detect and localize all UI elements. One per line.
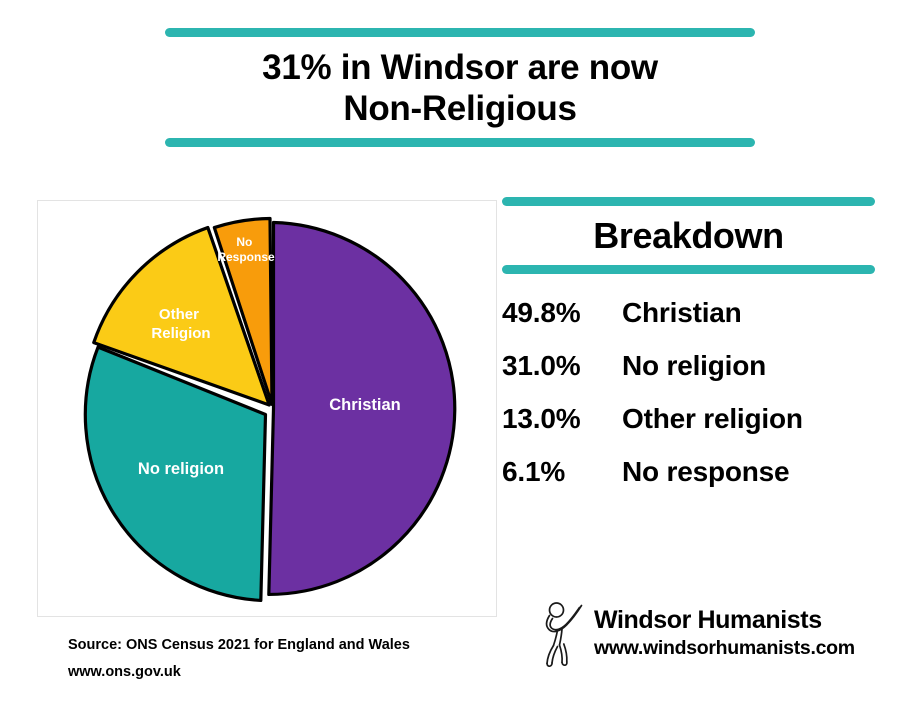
breakdown-heading: Breakdown xyxy=(502,215,875,257)
page-title: 31% in Windsor are now Non-Religious xyxy=(165,47,755,130)
breakdown-row: 13.0% Other religion xyxy=(502,403,875,435)
breakdown-label: Other religion xyxy=(622,403,803,435)
source-block: Source: ONS Census 2021 for England and … xyxy=(68,632,410,686)
title-bottom-rule xyxy=(165,138,755,147)
happy-human-icon xyxy=(536,597,592,669)
breakdown-row: 6.1% No response xyxy=(502,456,875,488)
pie-label-no-religion: No religion xyxy=(138,460,224,478)
brand-name: Windsor Humanists xyxy=(594,606,855,634)
source-line-url: www.ons.gov.uk xyxy=(68,659,410,686)
breakdown-percent: 6.1% xyxy=(502,456,622,488)
breakdown-label: No response xyxy=(622,456,789,488)
breakdown-row: 49.8% Christian xyxy=(502,297,875,329)
breakdown-label: Christian xyxy=(622,297,742,329)
source-line-census: Source: ONS Census 2021 for England and … xyxy=(68,632,410,659)
breakdown-percent: 13.0% xyxy=(502,403,622,435)
pie-chart-panel: Christian No religion Other Religion No … xyxy=(37,200,497,617)
breakdown-list: 49.8% Christian 31.0% No religion 13.0% … xyxy=(502,297,875,488)
breakdown-label: No religion xyxy=(622,350,766,382)
pie-label-christian: Christian xyxy=(329,396,401,414)
breakdown-percent: 31.0% xyxy=(502,350,622,382)
pie-chart: Christian No religion Other Religion No … xyxy=(38,201,498,618)
breakdown-bottom-rule xyxy=(502,265,875,274)
brand-text: Windsor Humanists www.windsorhumanists.c… xyxy=(594,606,855,659)
breakdown-top-rule xyxy=(502,197,875,206)
breakdown-panel: Breakdown 49.8% Christian 31.0% No relig… xyxy=(502,197,875,509)
brand-url[interactable]: www.windsorhumanists.com xyxy=(594,637,855,659)
breakdown-percent: 49.8% xyxy=(502,297,622,329)
breakdown-row: 31.0% No religion xyxy=(502,350,875,382)
title-block: 31% in Windsor are now Non-Religious xyxy=(165,28,755,147)
footer-brand: Windsor Humanists www.windsorhumanists.c… xyxy=(536,597,855,669)
title-top-rule xyxy=(165,28,755,37)
